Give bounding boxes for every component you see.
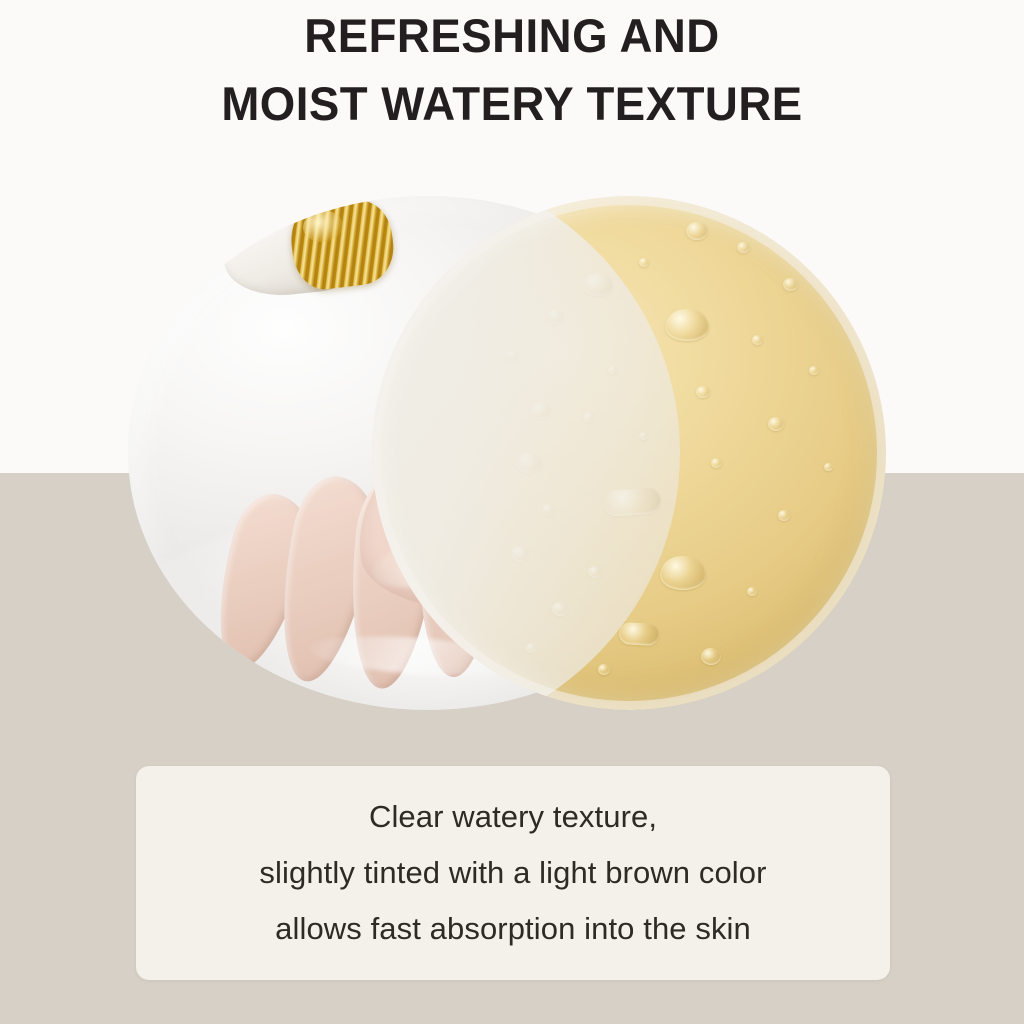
product-feature-poster: REFRESHING AND MOIST WATERY TEXTURE	[0, 0, 1024, 1024]
serum-bubble	[598, 664, 610, 675]
headline-line-2: MOIST WATERY TEXTURE	[15, 70, 1008, 138]
caption-line-2: slightly tinted with a light brown color	[259, 845, 766, 901]
serum-bubble	[665, 309, 709, 341]
serum-bubble	[701, 648, 721, 665]
serum-bubble	[660, 556, 706, 590]
serum-bubble	[737, 242, 750, 253]
caption-card: Clear watery texture, slightly tinted wi…	[136, 766, 890, 980]
headline: REFRESHING AND MOIST WATERY TEXTURE	[0, 2, 1024, 138]
serum-bubble	[824, 463, 833, 471]
serum-bubble	[747, 587, 757, 596]
texture-visual	[128, 196, 886, 710]
serum-bubble	[696, 386, 710, 398]
caption-line-3: allows fast absorption into the skin	[275, 901, 751, 957]
serum-bubble	[711, 458, 722, 468]
serum-bubble	[778, 510, 790, 521]
headline-line-1: REFRESHING AND	[15, 2, 1008, 70]
golden-serum-lens	[372, 196, 886, 710]
serum-bubble	[686, 222, 708, 240]
serum-bubble	[752, 335, 763, 345]
serum-bubble	[639, 258, 649, 267]
serum-bubble	[809, 366, 819, 375]
serum-bubble	[768, 417, 784, 431]
serum-bubble	[783, 278, 798, 291]
serum-bubble	[618, 622, 659, 646]
caption-line-1: Clear watery texture,	[369, 789, 657, 845]
